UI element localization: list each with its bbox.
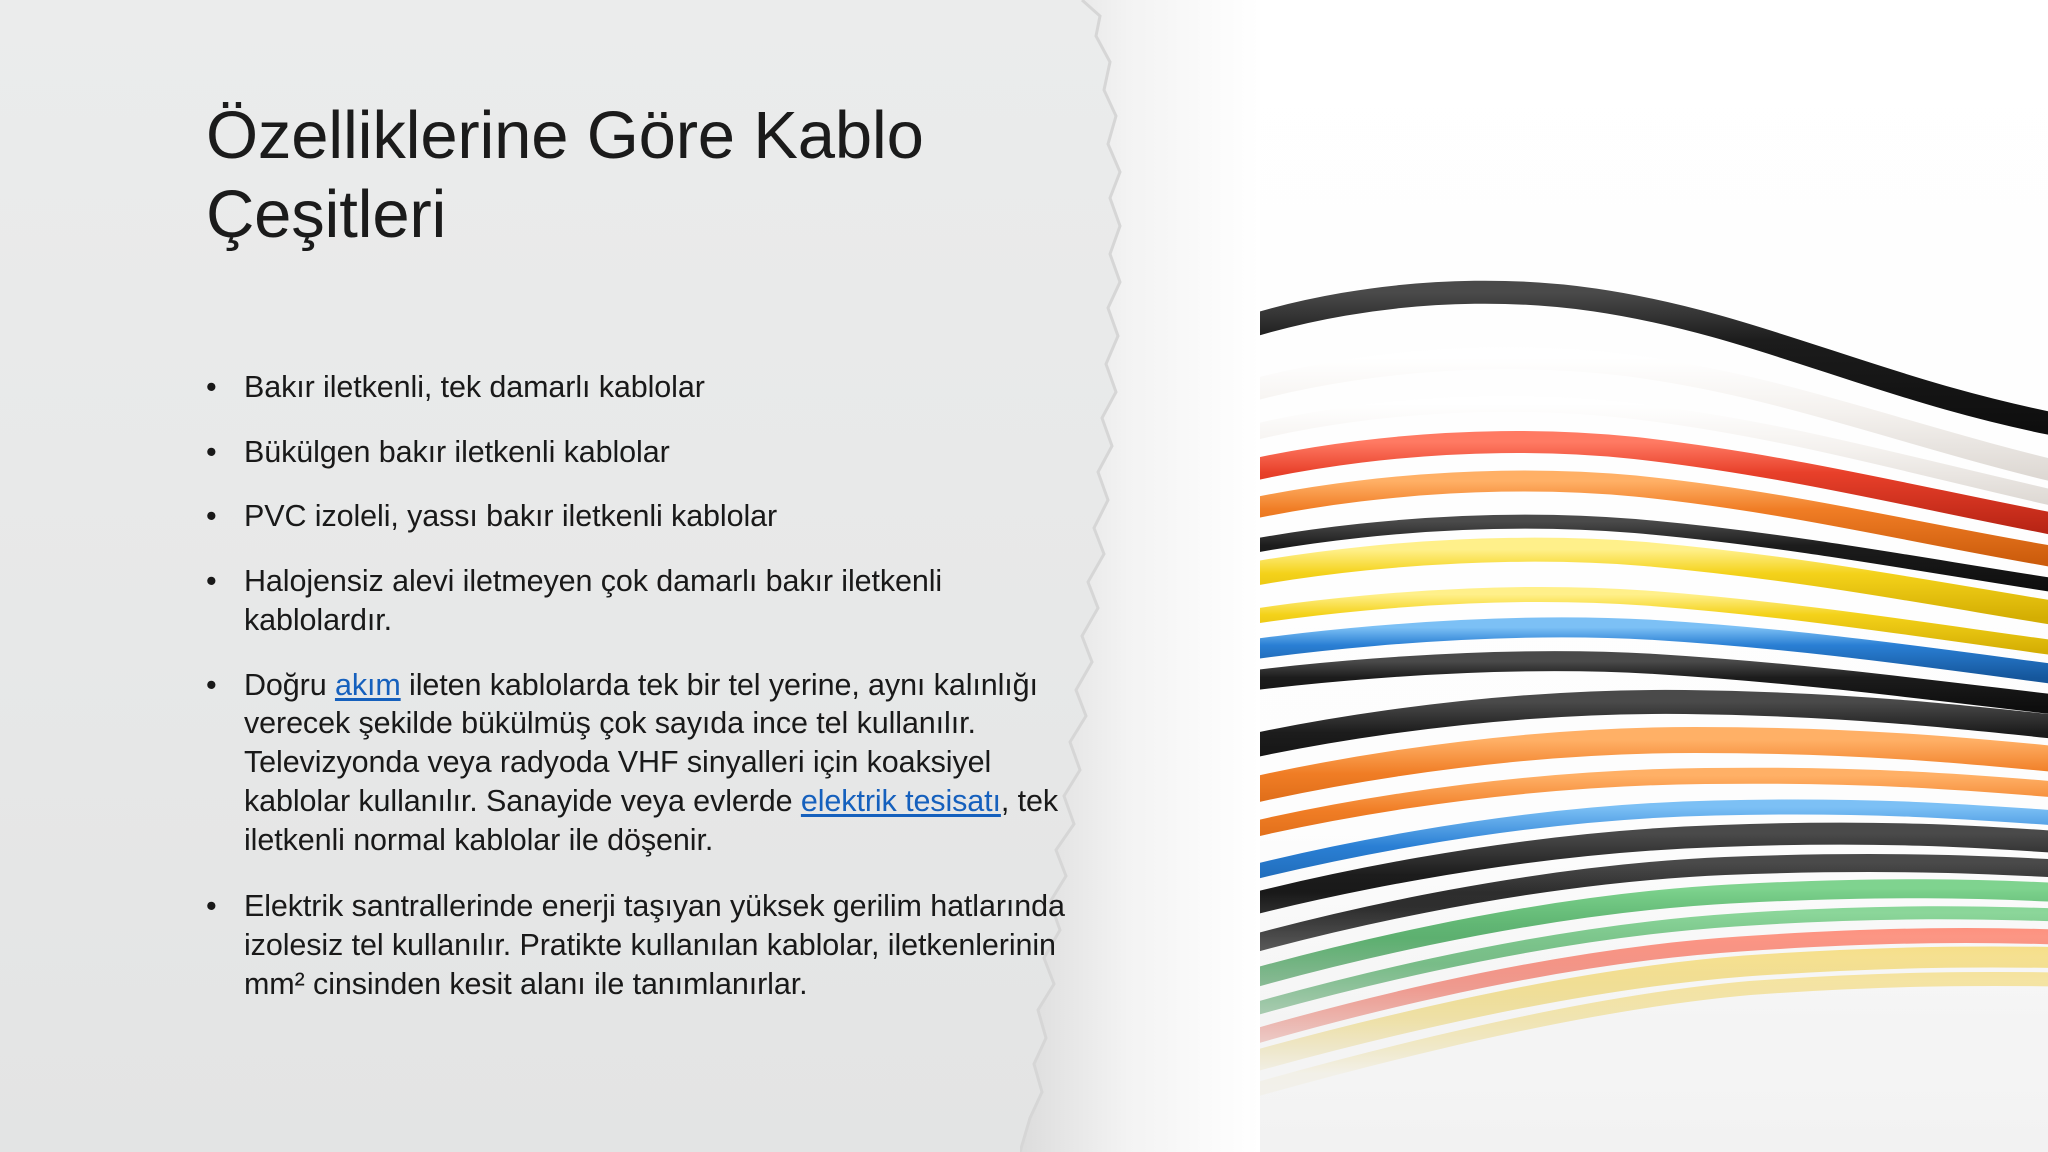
presentation-slide: Özelliklerine Göre Kablo Çeşitleri • Bak… bbox=[0, 0, 2048, 1152]
list-item: • Halojensiz alevi iletmeyen çok damarlı… bbox=[200, 562, 1044, 639]
bullet-dot-icon: • bbox=[206, 497, 217, 536]
title-line-2: Çeşitleri bbox=[206, 175, 1106, 254]
bullet-dot-icon: • bbox=[206, 562, 217, 601]
link-akim[interactable]: akım bbox=[335, 668, 401, 702]
list-item: •Doğru akım ileten kablolarda tek bir te… bbox=[200, 666, 1074, 860]
list-item-label: PVC izoleli, yassı bakır iletkenli kablo… bbox=[244, 499, 777, 533]
slide-text-content: Özelliklerine Göre Kablo Çeşitleri • Bak… bbox=[0, 0, 1040, 1152]
link-elektrik-tesisati[interactable]: elektrik tesisatı bbox=[801, 784, 1001, 818]
bullet-dot-icon: • bbox=[206, 666, 217, 705]
list-item: • Elektrik santrallerinde enerji taşıyan… bbox=[200, 887, 1074, 1003]
list-item: • PVC izoleli, yassı bakır iletkenli kab… bbox=[200, 497, 1004, 536]
paragraph-part-a: Doğru bbox=[244, 668, 335, 702]
cable-bundle-illustration bbox=[1125, 0, 2048, 1152]
list-item: • Bükülgen bakır iletkenli kablolar bbox=[200, 433, 1004, 472]
page-title: Özelliklerine Göre Kablo Çeşitleri bbox=[206, 96, 1106, 254]
list-item: • Bakır iletkenli, tek damarlı kablolar bbox=[200, 368, 1004, 407]
list-item-label: Bakır iletkenli, tek damarlı kablolar bbox=[244, 370, 705, 404]
bullet-dot-icon: • bbox=[206, 433, 217, 472]
bullet-dot-icon: • bbox=[206, 368, 217, 407]
list-item-label: Bükülgen bakır iletkenli kablolar bbox=[244, 435, 670, 469]
bullet-list: • Bakır iletkenli, tek damarlı kablolar … bbox=[200, 368, 1260, 1032]
title-line-1: Özelliklerine Göre Kablo bbox=[206, 96, 1106, 175]
cable-photo bbox=[1125, 0, 2048, 1152]
list-item-label: Halojensiz alevi iletmeyen çok damarlı b… bbox=[244, 564, 942, 637]
bullet-dot-icon: • bbox=[206, 887, 217, 926]
list-item-label: Elektrik santrallerinde enerji taşıyan y… bbox=[244, 889, 1065, 1000]
cable-photo-inner bbox=[1125, 0, 2048, 1152]
